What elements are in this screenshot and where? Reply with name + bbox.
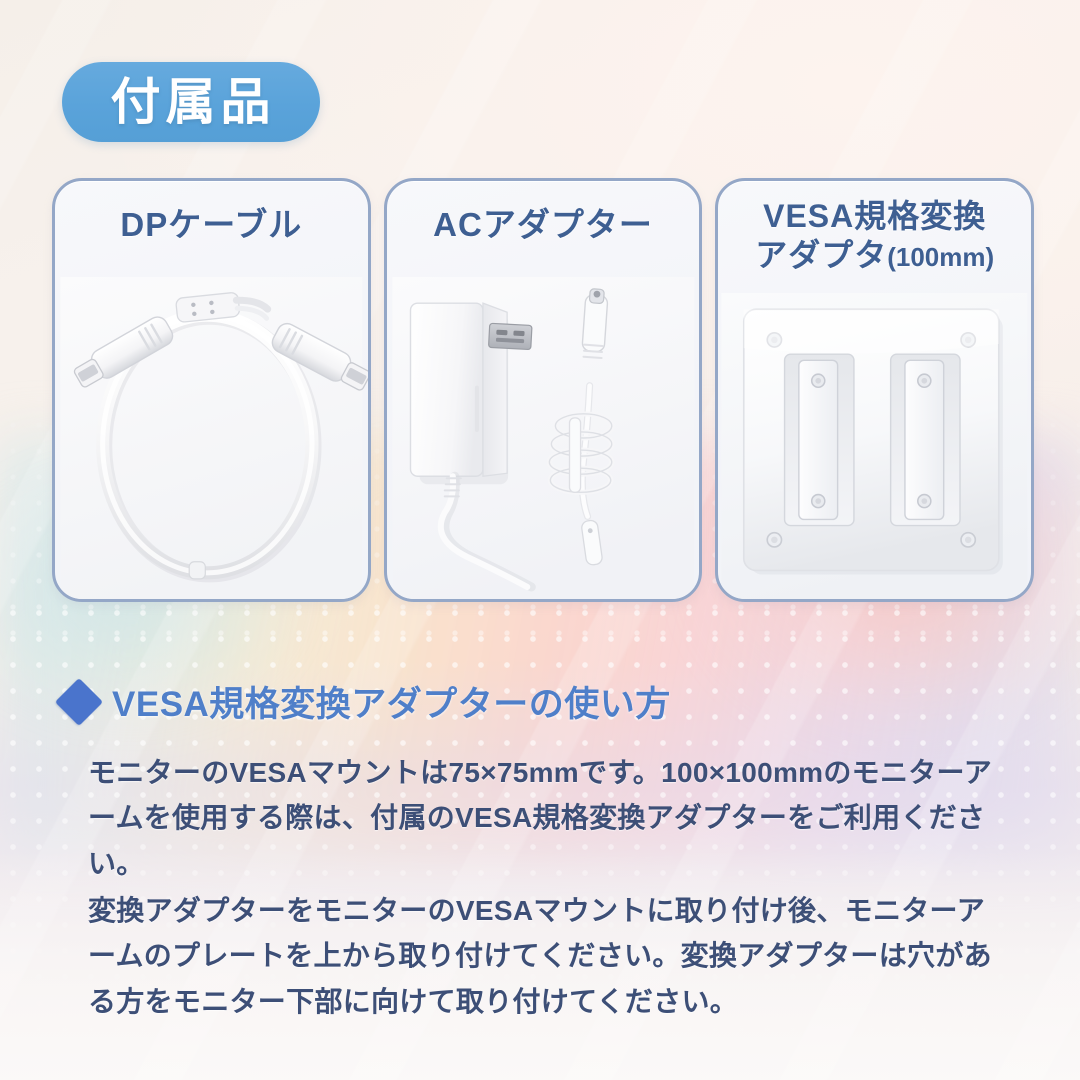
accessory-card-list: DPケーブル <box>52 178 1034 602</box>
card-title-vesa-adapter: VESA規格変換 アダプタ(100mm) <box>718 197 1031 275</box>
usage-description: モニターのVESAマウントは75×75mmです。100×100mmのモニターアー… <box>88 750 1003 1024</box>
product-photo-ac-adapter <box>387 277 700 599</box>
card-title-vesa-line2: アダプタ <box>755 237 887 273</box>
accessory-card-ac-adapter: ACアダプター <box>384 178 703 602</box>
usage-paragraph-1: モニターのVESAマウントは75×75mmです。100×100mmのモニターアー… <box>88 750 1003 886</box>
product-photo-vesa-adapter <box>718 293 1031 599</box>
product-photo-dp-cable <box>55 277 368 599</box>
section-badge: 付属品 <box>62 62 320 142</box>
accessory-card-vesa-adapter: VESA規格変換 アダプタ(100mm) <box>715 178 1034 602</box>
card-title-dp-cable: DPケーブル <box>55 205 368 245</box>
diamond-bullet-icon <box>55 677 103 725</box>
card-title-vesa-line2-wrap: アダプタ(100mm) <box>718 236 1031 275</box>
section-badge-label: 付属品 <box>107 77 276 127</box>
card-title-vesa-size: (100mm) <box>887 242 994 272</box>
card-title-ac-adapter: ACアダプター <box>387 205 700 245</box>
usage-section-heading-label: VESA規格変換アダプターの使い方 <box>112 676 671 727</box>
card-title-vesa-line1: VESA規格変換 <box>718 197 1031 236</box>
accessory-card-dp-cable: DPケーブル <box>52 178 371 602</box>
infographic-page: 付属品 DPケーブル <box>0 0 1080 1080</box>
usage-paragraph-2: 変換アダプターをモニターのVESAマウントに取り付け後、モニターアームのプレート… <box>88 888 1003 1024</box>
usage-section-heading: VESA規格変換アダプターの使い方 <box>62 676 671 727</box>
